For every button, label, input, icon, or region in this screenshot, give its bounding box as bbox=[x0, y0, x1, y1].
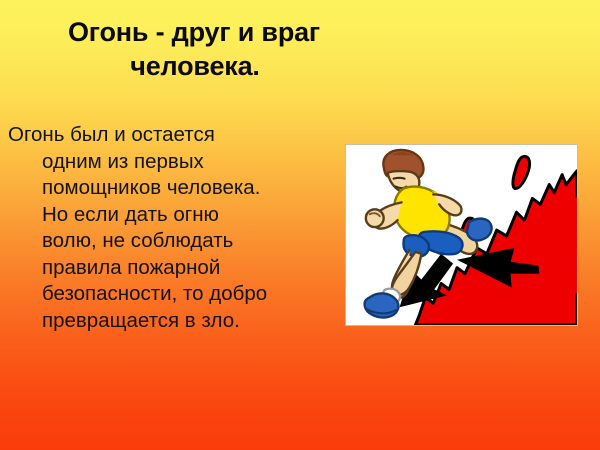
body-line-7: безопасности, то добро bbox=[8, 281, 348, 308]
boy-back-shoe bbox=[467, 219, 492, 241]
body-line-6: правила пожарной bbox=[8, 255, 348, 282]
body-line-2: одним из первых bbox=[8, 149, 348, 176]
illustration-panel bbox=[345, 144, 578, 326]
body-line-5: волю, не соблюдать bbox=[8, 228, 348, 255]
slide: Огонь - друг и враг человека. Огонь был … bbox=[0, 0, 600, 450]
boy-back-shoe-shape bbox=[467, 219, 492, 241]
body-line-8: превращается в зло. bbox=[8, 308, 348, 335]
body-line-1: Огонь был и остается bbox=[8, 122, 348, 149]
page-title: Огонь - друг и враг человека. bbox=[30, 16, 360, 84]
boy-eye bbox=[394, 178, 405, 179]
body-line-4: Но если дать огню bbox=[8, 202, 348, 229]
body-paragraph: Огонь был и остается одним из первых пом… bbox=[8, 122, 348, 334]
illustration-fire-and-boy bbox=[346, 145, 577, 325]
body-line-3: помощников человека. bbox=[8, 175, 348, 202]
boy-front-fist bbox=[366, 209, 384, 227]
title-line-2: человека. bbox=[30, 50, 360, 84]
title-line-1: Огонь - друг и враг bbox=[28, 16, 360, 50]
